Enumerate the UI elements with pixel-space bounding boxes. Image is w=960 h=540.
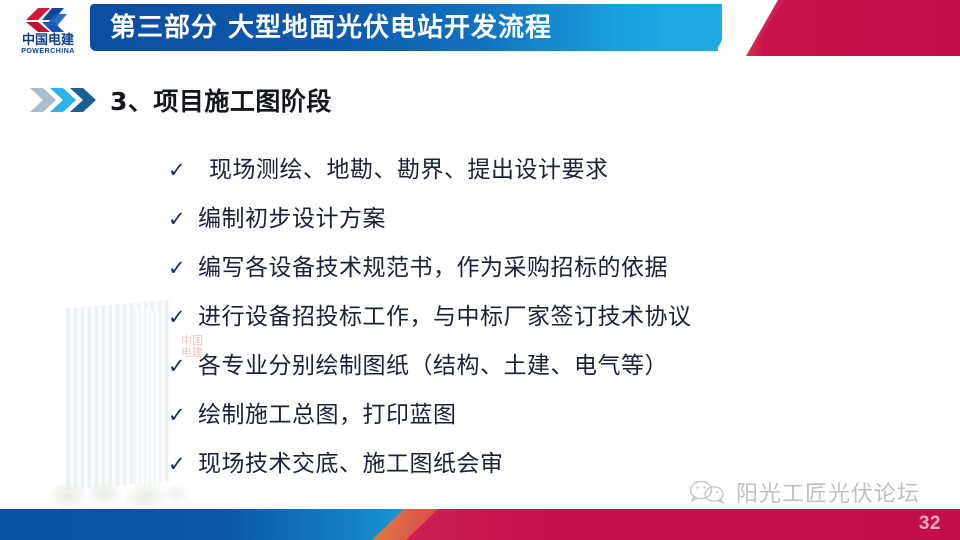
powerchina-logo: 中国电建 POWERCHINA xyxy=(12,6,84,58)
list-item: ✓ 绘制施工总图，打印蓝图 xyxy=(168,395,908,444)
watermark-tower-side xyxy=(134,308,160,487)
list-item-label: 各专业分别绘制图纸（结构、土建、电气等） xyxy=(198,346,668,380)
check-icon: ✓ xyxy=(168,454,198,475)
header-cyan-cap xyxy=(660,4,722,51)
chevron-group xyxy=(30,85,100,115)
list-item-label: 现场测绘、地勘、勘界、提出设计要求 xyxy=(198,150,609,184)
powerchina-diamond-icon xyxy=(24,6,72,34)
slide-canvas: 中国电建 第三部分 大型地面光伏电站开发流程 中国电建 POWERCHINA xyxy=(0,0,960,540)
list-item: ✓ 编写各设备技术规范书，作为采购招标的依据 xyxy=(168,248,908,297)
page-title: 第三部分 大型地面光伏电站开发流程 xyxy=(110,8,552,48)
logo-name-en: POWERCHINA xyxy=(12,48,84,55)
check-icon: ✓ xyxy=(168,307,198,328)
list-item: ✓ 现场测绘、地勘、勘界、提出设计要求 xyxy=(168,150,908,199)
check-icon: ✓ xyxy=(168,209,198,230)
list-item: ✓ 进行设备招投标工作，与中标厂家签订技术协议 xyxy=(168,297,908,346)
header-red-swoosh-inner xyxy=(712,0,960,56)
slide-footer-bar: 32 xyxy=(0,509,960,540)
watermark-tower-face xyxy=(66,299,171,490)
bullet-list: ✓ 现场测绘、地勘、勘界、提出设计要求 ✓ 编制初步设计方案 ✓ 编写各设备技术… xyxy=(168,150,908,493)
check-icon: ✓ xyxy=(168,160,198,181)
list-item-label: 现场技术交底、施工图纸会审 xyxy=(198,444,504,478)
list-item: ✓ 各专业分别绘制图纸（结构、土建、电气等） xyxy=(168,346,908,395)
list-item-label: 绘制施工总图，打印蓝图 xyxy=(198,395,457,429)
section-heading: 3、项目施工图阶段 xyxy=(30,80,332,120)
list-item: ✓ 现场技术交底、施工图纸会审 xyxy=(168,444,908,493)
list-item: ✓ 编制初步设计方案 xyxy=(168,199,908,248)
slide-header: 第三部分 大型地面光伏电站开发流程 xyxy=(0,0,960,62)
footer-blue-segment xyxy=(0,509,420,540)
check-icon: ✓ xyxy=(168,405,198,426)
list-item-label: 进行设备招投标工作，与中标厂家签订技术协议 xyxy=(198,297,692,331)
check-icon: ✓ xyxy=(168,356,198,377)
section-heading-label: 3、项目施工图阶段 xyxy=(110,82,332,118)
check-icon: ✓ xyxy=(168,258,198,279)
list-item-label: 编写各设备技术规范书，作为采购招标的依据 xyxy=(198,248,668,282)
logo-name-cn: 中国电建 xyxy=(12,34,84,48)
footer-red-segment xyxy=(380,509,960,540)
list-item-label: 编制初步设计方案 xyxy=(198,199,386,233)
page-number: 32 xyxy=(919,513,941,535)
